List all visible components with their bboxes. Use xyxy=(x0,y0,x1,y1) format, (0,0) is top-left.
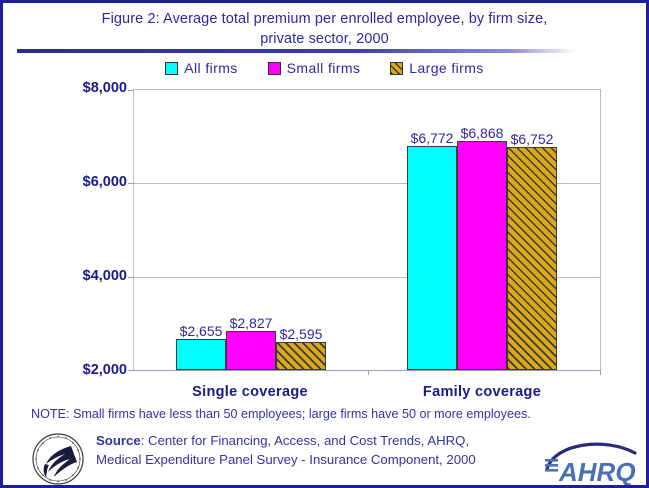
y-tick-6000 xyxy=(128,183,134,184)
source-label: Source xyxy=(96,433,141,448)
figure-title: Figure 2: Average total premium per enro… xyxy=(3,9,646,49)
bar-value-family-all-firms: $6,772 xyxy=(411,130,454,146)
hhs-seal-logo xyxy=(30,431,90,487)
y-tick-label-8000: $8,000 xyxy=(53,80,127,96)
y-tick-label-4000: $4,000 xyxy=(53,268,127,284)
x-label-single-coverage: Single coverage xyxy=(192,384,308,400)
bar-value-single-large-firms: $2,595 xyxy=(280,326,323,342)
bar-single-small-firms[interactable]: $2,827 xyxy=(226,331,276,370)
y-tick-8000 xyxy=(128,90,134,91)
plot-area: $2,655 $2,827 $2,595 $6,772 $6,868 $6,75… xyxy=(133,89,601,371)
bar-single-all-firms[interactable]: $2,655 xyxy=(176,339,226,370)
x-tick-divider xyxy=(368,370,369,375)
y-tick-4000 xyxy=(128,277,134,278)
legend-swatch-all-firms xyxy=(165,62,178,75)
x-label-family-coverage: Family coverage xyxy=(423,384,541,400)
x-tick-right xyxy=(600,370,601,375)
title-line-2: private sector, 2000 xyxy=(3,29,646,49)
legend-item-all-firms: All firms xyxy=(165,60,237,76)
legend-swatch-small-firms xyxy=(268,62,281,75)
legend-label-small-firms: Small firms xyxy=(287,60,361,76)
y-axis: $8,000 $6,000 $4,000 $2,000 xyxy=(51,89,127,371)
title-divider xyxy=(17,49,577,53)
chart-legend: All firms Small firms Large firms xyxy=(3,60,646,76)
legend-item-large-firms: Large firms xyxy=(390,60,483,76)
ahrq-logo: AHRQ xyxy=(543,435,643,485)
source-line-2: Medical Expenditure Panel Survey - Insur… xyxy=(96,450,566,469)
y-tick-2000 xyxy=(128,370,134,371)
ahrq-logo-text: AHRQ xyxy=(558,457,636,485)
x-axis-labels: Single coverage Family coverage xyxy=(133,384,601,406)
legend-swatch-large-firms xyxy=(390,62,403,75)
bar-single-large-firms[interactable]: $2,595 xyxy=(276,342,326,370)
bar-family-large-firms[interactable]: $6,752 xyxy=(507,147,557,370)
bar-value-single-small-firms: $2,827 xyxy=(230,315,273,331)
y-tick-label-2000: $2,000 xyxy=(53,362,127,378)
legend-label-large-firms: Large firms xyxy=(409,60,483,76)
legend-label-all-firms: All firms xyxy=(184,60,237,76)
figure-note: NOTE: Small firms have less than 50 empl… xyxy=(31,407,531,421)
legend-item-small-firms: Small firms xyxy=(268,60,361,76)
bar-family-all-firms[interactable]: $6,772 xyxy=(407,146,457,370)
title-line-1: Figure 2: Average total premium per enro… xyxy=(3,9,646,29)
source-line-1-rest: : Center for Financing, Access, and Cost… xyxy=(141,433,469,448)
bar-family-small-firms[interactable]: $6,868 xyxy=(457,141,507,370)
bar-value-family-small-firms: $6,868 xyxy=(461,125,504,141)
figure-container: Figure 2: Average total premium per enro… xyxy=(0,0,649,488)
bar-value-family-large-firms: $6,752 xyxy=(511,131,554,147)
source-line-1: Source: Center for Financing, Access, an… xyxy=(96,431,566,450)
y-tick-label-6000: $6,000 xyxy=(53,174,127,190)
figure-source: Source: Center for Financing, Access, an… xyxy=(96,431,566,469)
bar-value-single-all-firms: $2,655 xyxy=(180,323,223,339)
